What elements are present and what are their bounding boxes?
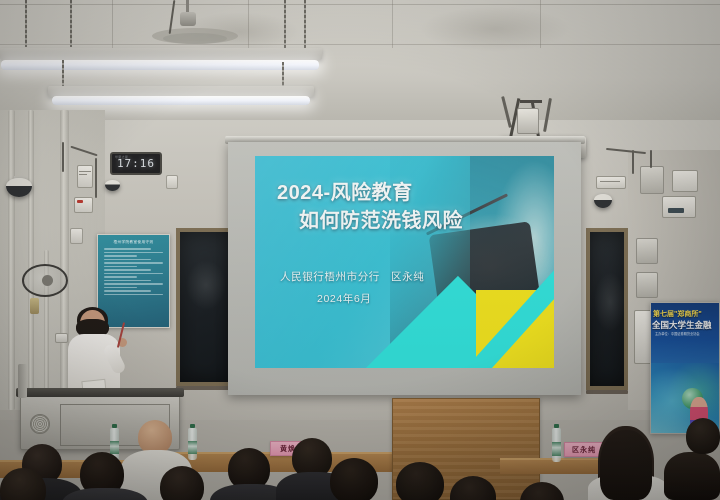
light-chain — [304, 0, 306, 50]
chalk-smudge — [594, 272, 626, 332]
wall-wire — [632, 150, 634, 174]
banner-line2: 全国大学生金融 — [652, 319, 720, 331]
wall-stain — [420, 6, 570, 52]
blackboard-left — [176, 228, 234, 386]
bottle-cap — [190, 424, 195, 428]
competition-banner-poster: 第七届"郑商所" 全国大学生金融 主办单位：中国证券期货业协会 — [650, 302, 720, 434]
poster-text-line — [104, 290, 151, 292]
ceiling-seam — [112, 0, 113, 48]
poster-title: 梧州学院教室使用守则 — [102, 240, 165, 245]
wall-pipe — [28, 110, 34, 410]
poster-text-line — [104, 283, 163, 285]
clock-brand-label: 华夏之星 — [115, 155, 128, 159]
bottle-cap — [554, 424, 559, 428]
wall-box — [636, 272, 658, 298]
electric-meter — [77, 165, 93, 188]
fluorescent-tube — [52, 96, 310, 105]
bottle-label — [552, 442, 561, 456]
slide-title-line1: 2024-风险教育 — [277, 176, 413, 205]
poster-text-line — [104, 262, 163, 264]
poster-text-line — [104, 273, 163, 275]
wall-speaker — [640, 166, 664, 194]
control-box — [672, 170, 698, 192]
light-chain — [62, 60, 64, 88]
audience-head — [138, 420, 172, 454]
audience-head — [160, 466, 204, 500]
poster-text-line — [104, 276, 137, 278]
meter-detail — [79, 171, 91, 172]
poster-text-line — [104, 266, 137, 268]
digital-clock: 华夏之星 17:16 — [110, 152, 162, 175]
wall-wire — [62, 142, 64, 172]
panel-display — [668, 208, 684, 213]
poster-text-line — [104, 294, 163, 296]
poster-text-line — [104, 255, 137, 257]
meter-led — [77, 200, 83, 203]
poster-text-line — [104, 252, 163, 254]
name-card-label: 区永纯 — [572, 445, 596, 455]
audience-head — [330, 458, 378, 500]
meter-detail — [79, 174, 87, 175]
poster-text-line — [104, 269, 151, 271]
wall-fan-mount — [30, 298, 39, 314]
ceiling-seam — [392, 0, 393, 48]
blackboard-right — [586, 228, 628, 390]
poster-text-line — [104, 259, 151, 261]
wall-fan-hub — [42, 275, 53, 286]
ceiling-seam — [0, 4, 720, 5]
light-chain — [25, 0, 27, 47]
ceiling-fan-blade — [163, 33, 227, 44]
wall-pipe — [8, 110, 15, 410]
poster-text-line — [104, 248, 151, 250]
podium-top-surface — [16, 388, 184, 397]
bottle-cap — [112, 424, 117, 428]
audience-head — [664, 452, 720, 500]
ceiling-fan-motor — [180, 12, 196, 26]
bottle-label — [110, 441, 119, 454]
poster-text-line — [104, 287, 137, 289]
wall-switch — [166, 175, 178, 189]
slide-date: 2024年6月 — [317, 291, 371, 306]
podium-post — [18, 364, 27, 398]
presentation-slide: 2024-风险教育 如何防范洗钱风险 人民银行梧州市分行 区永纯 2024年6月 — [255, 156, 554, 368]
banner-line3: 主办单位：中国证券期货业协会 — [655, 331, 700, 336]
audience-long-hair — [600, 430, 652, 500]
slide-title-line2: 如何防范洗钱风险 — [299, 204, 463, 233]
wall-wire — [650, 150, 652, 168]
water-bottle — [188, 428, 197, 460]
light-chain — [282, 62, 284, 88]
chalk-smudge — [186, 260, 226, 310]
chalk-rail — [586, 390, 628, 394]
light-fixture — [0, 48, 322, 60]
wall-box — [636, 238, 658, 264]
banner-line1: 第七届"郑商所" — [653, 309, 720, 319]
audience-head — [686, 418, 720, 454]
wall-wire — [95, 158, 97, 198]
presenter — [62, 310, 132, 400]
slide-organization: 人民银行梧州市分行 区永纯 — [280, 269, 424, 284]
clock-time: 17:16 — [117, 158, 155, 169]
light-chain — [284, 0, 286, 50]
classroom-photo: 华夏之星 17:16 梧州学院教室使用守则 — [0, 0, 720, 500]
projector-mount — [520, 100, 542, 103]
panel-detail — [600, 181, 620, 182]
light-chain — [70, 0, 72, 47]
poster-text-line — [104, 280, 151, 282]
slide-text-block: 2024-风险教育 如何防范洗钱风险 人民银行梧州市分行 区永纯 2024年6月 — [255, 156, 554, 368]
podium-vent — [30, 414, 50, 434]
audience-head — [396, 462, 444, 500]
water-bottle — [552, 428, 561, 462]
control-box — [662, 196, 696, 218]
wall-outlet — [70, 228, 83, 244]
control-panel — [596, 176, 626, 189]
bottle-label — [188, 441, 197, 454]
fluorescent-tube — [1, 60, 319, 70]
chalk-rail — [176, 386, 234, 390]
projector-bracket-plate — [517, 108, 539, 134]
ceiling-seam — [0, 44, 720, 45]
